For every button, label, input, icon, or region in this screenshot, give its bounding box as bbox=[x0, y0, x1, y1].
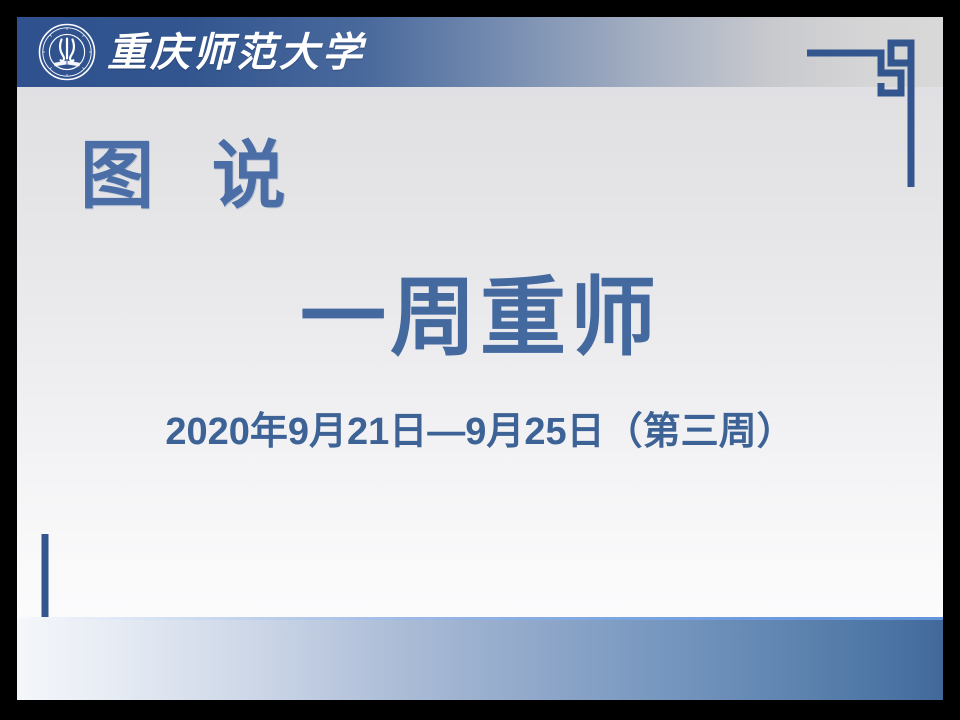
slide-root: 重庆师范大学 bbox=[0, 0, 960, 720]
kicker-title: 图 说 bbox=[80, 139, 302, 213]
university-seal-icon bbox=[38, 23, 96, 81]
meander-corner-ornament-top-right bbox=[805, 29, 925, 189]
university-name: 重庆师范大学 bbox=[107, 25, 365, 81]
slide-canvas: 重庆师范大学 bbox=[17, 17, 943, 700]
date-range-subtitle: 2020年9月21日—9月25日（第三周） bbox=[17, 413, 943, 451]
page-title: 一周重师 bbox=[17, 275, 943, 361]
footer-band bbox=[17, 620, 943, 700]
